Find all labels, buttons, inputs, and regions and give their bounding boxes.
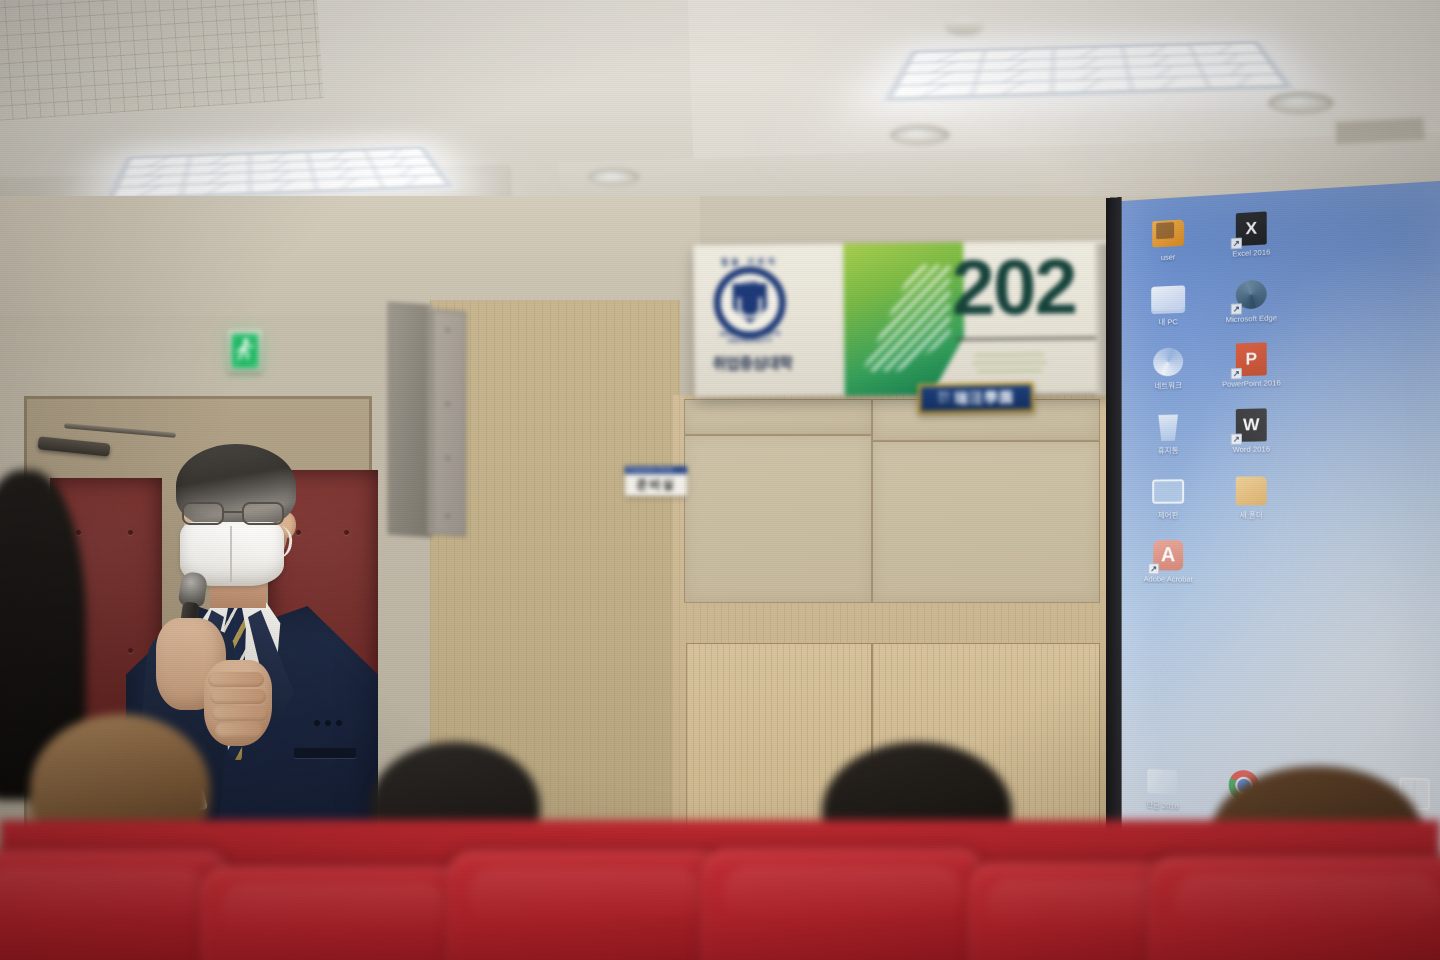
- excel-icon: X ↗: [1236, 211, 1267, 246]
- banner-wave-2: [972, 362, 1046, 365]
- desktop-icon-recycle-bin[interactable]: 휴지통: [1135, 409, 1201, 456]
- desktop-icon-label: 한글 2018: [1133, 800, 1191, 812]
- plaque-prefix-line-2: 法人: [938, 398, 950, 405]
- banner-wave-1: [974, 354, 1044, 357]
- hancom-hangul-icon: [1147, 769, 1177, 795]
- wall-panel-1: [684, 399, 872, 435]
- recycle-bin-icon: [1155, 412, 1181, 441]
- seat-2[interactable]: [200, 866, 470, 960]
- presenter-eyeglasses: [180, 502, 292, 526]
- desktop-icon-new-folder[interactable]: 새 폴더: [1211, 472, 1291, 519]
- desktop-icon-my-pc[interactable]: 내 PC: [1135, 279, 1201, 328]
- desktop-icon-edge[interactable]: ↗ Microsoft Edge: [1211, 275, 1291, 325]
- presenter-jacket-pocket: [294, 748, 356, 758]
- word-icon: W ↗: [1236, 408, 1267, 442]
- desktop-icon-grid: user X ↗ Excel 2016 내 PC: [1135, 206, 1340, 586]
- prep-sign-korean: 준비실: [625, 474, 687, 493]
- desktop-icon-label: Word 2016: [1211, 445, 1291, 455]
- institution-plaque: 學校 法人 瑞汪學園: [918, 382, 1035, 414]
- upper-wall-band: [0, 196, 700, 316]
- downlight-5: [1268, 92, 1334, 114]
- emblem-motto: 힘을 기르자: [705, 256, 793, 268]
- desktop-icon-control-panel[interactable]: 제어판: [1135, 473, 1201, 520]
- banner-sub-label: 취업중심대학: [700, 352, 804, 374]
- desktop-icon-label: 내 PC: [1135, 317, 1201, 328]
- desktop-icon-label: 네트워크: [1135, 382, 1201, 393]
- desktop-icon-excel[interactable]: X ↗ Excel 2016: [1211, 209, 1291, 260]
- adobe-acrobat-icon: A ↗: [1153, 540, 1183, 571]
- emblem-arc-text: SEOYEONG 1978 UNIVERSITY: [706, 330, 794, 345]
- new-folder-icon: [1236, 476, 1267, 505]
- desktop-icon-label: PowerPoint 2016: [1211, 379, 1291, 390]
- desktop-icon-label: user: [1135, 252, 1201, 264]
- control-panel-icon: [1152, 479, 1184, 504]
- powerpoint-icon: P ↗: [1236, 343, 1267, 377]
- wall-panel-3: [684, 435, 872, 603]
- seat-6[interactable]: [1148, 856, 1440, 960]
- ceiling-grille-texture: [0, 0, 324, 122]
- desktop-icon-hangul[interactable]: 한글 2018: [1133, 763, 1191, 812]
- seat-3[interactable]: [446, 850, 726, 960]
- my-pc-icon: [1151, 285, 1185, 311]
- desktop-icon-label: Excel 2016: [1211, 247, 1291, 260]
- downlight-4: [890, 125, 950, 145]
- desktop-icon-label: 휴지통: [1135, 446, 1201, 456]
- seat-1[interactable]: [0, 850, 230, 960]
- desktop-icon-network[interactable]: 네트워크: [1135, 344, 1201, 392]
- user-folder-icon: [1152, 219, 1184, 247]
- desktop-icon-user-folder[interactable]: user: [1135, 214, 1201, 264]
- air-vent-right: [1333, 116, 1426, 147]
- presenter-fingers: [208, 672, 272, 742]
- downlight-3: [588, 168, 640, 186]
- projected-desktop[interactable]: user X ↗ Excel 2016 내 PC: [1122, 179, 1440, 872]
- shortcut-arrow-icon: ↗: [1231, 368, 1242, 380]
- plaque-main-text: 瑞汪學園: [954, 387, 1014, 408]
- shortcut-arrow-icon: ↗: [1231, 238, 1242, 250]
- prep-sign-english: Preparation Room: [625, 466, 687, 474]
- desktop-icon-label: 새 폴더: [1211, 511, 1291, 520]
- presenter-cuff-buttons: [314, 720, 342, 726]
- desktop-icon-powerpoint[interactable]: P ↗ PowerPoint 2016: [1211, 341, 1291, 390]
- desktop-icon-label: Microsoft Edge: [1211, 313, 1291, 325]
- emergency-exit-sign: [228, 330, 262, 372]
- desktop-icon-label: 제어판: [1135, 511, 1201, 520]
- banner-year: 202: [951, 247, 1076, 326]
- shortcut-arrow-icon: ↗: [1231, 433, 1242, 444]
- wall-panel-4: [872, 441, 1100, 603]
- university-emblem: 힘을 기르자 서영 SEOYEONG 1978 UNIVERSITY: [705, 258, 794, 347]
- preparation-room-sign: Preparation Room 준비실: [625, 466, 687, 496]
- network-icon: [1153, 348, 1183, 377]
- event-banner: 힘을 기르자 서영 SEOYEONG 1978 UNIVERSITY 취업중심대…: [693, 241, 1115, 397]
- projection-screen-border: [1106, 197, 1122, 864]
- shortcut-arrow-icon: ↗: [1231, 303, 1242, 315]
- desktop-icon-adobe-acrobat[interactable]: A ↗ Adobe Acrobat: [1135, 538, 1201, 585]
- smoke-detector: [946, 18, 982, 33]
- shortcut-arrow-icon: ↗: [1148, 563, 1159, 574]
- banner-wave-3: [977, 370, 1043, 373]
- auditorium-photo: Preparation Room 준비실 힘을 기르자 서영 SEOYEONG …: [0, 0, 1440, 960]
- desktop-icon-label: Adobe Acrobat: [1135, 575, 1201, 584]
- seat-4[interactable]: [700, 848, 986, 960]
- banner-rule-line: [956, 337, 1115, 341]
- running-man-icon: [235, 337, 255, 365]
- banner-green-graphic: [843, 242, 965, 395]
- wall-column-speaker: [388, 302, 466, 539]
- microsoft-edge-icon: ↗: [1236, 279, 1267, 309]
- desktop-icon-word[interactable]: W ↗ Word 2016: [1211, 407, 1291, 455]
